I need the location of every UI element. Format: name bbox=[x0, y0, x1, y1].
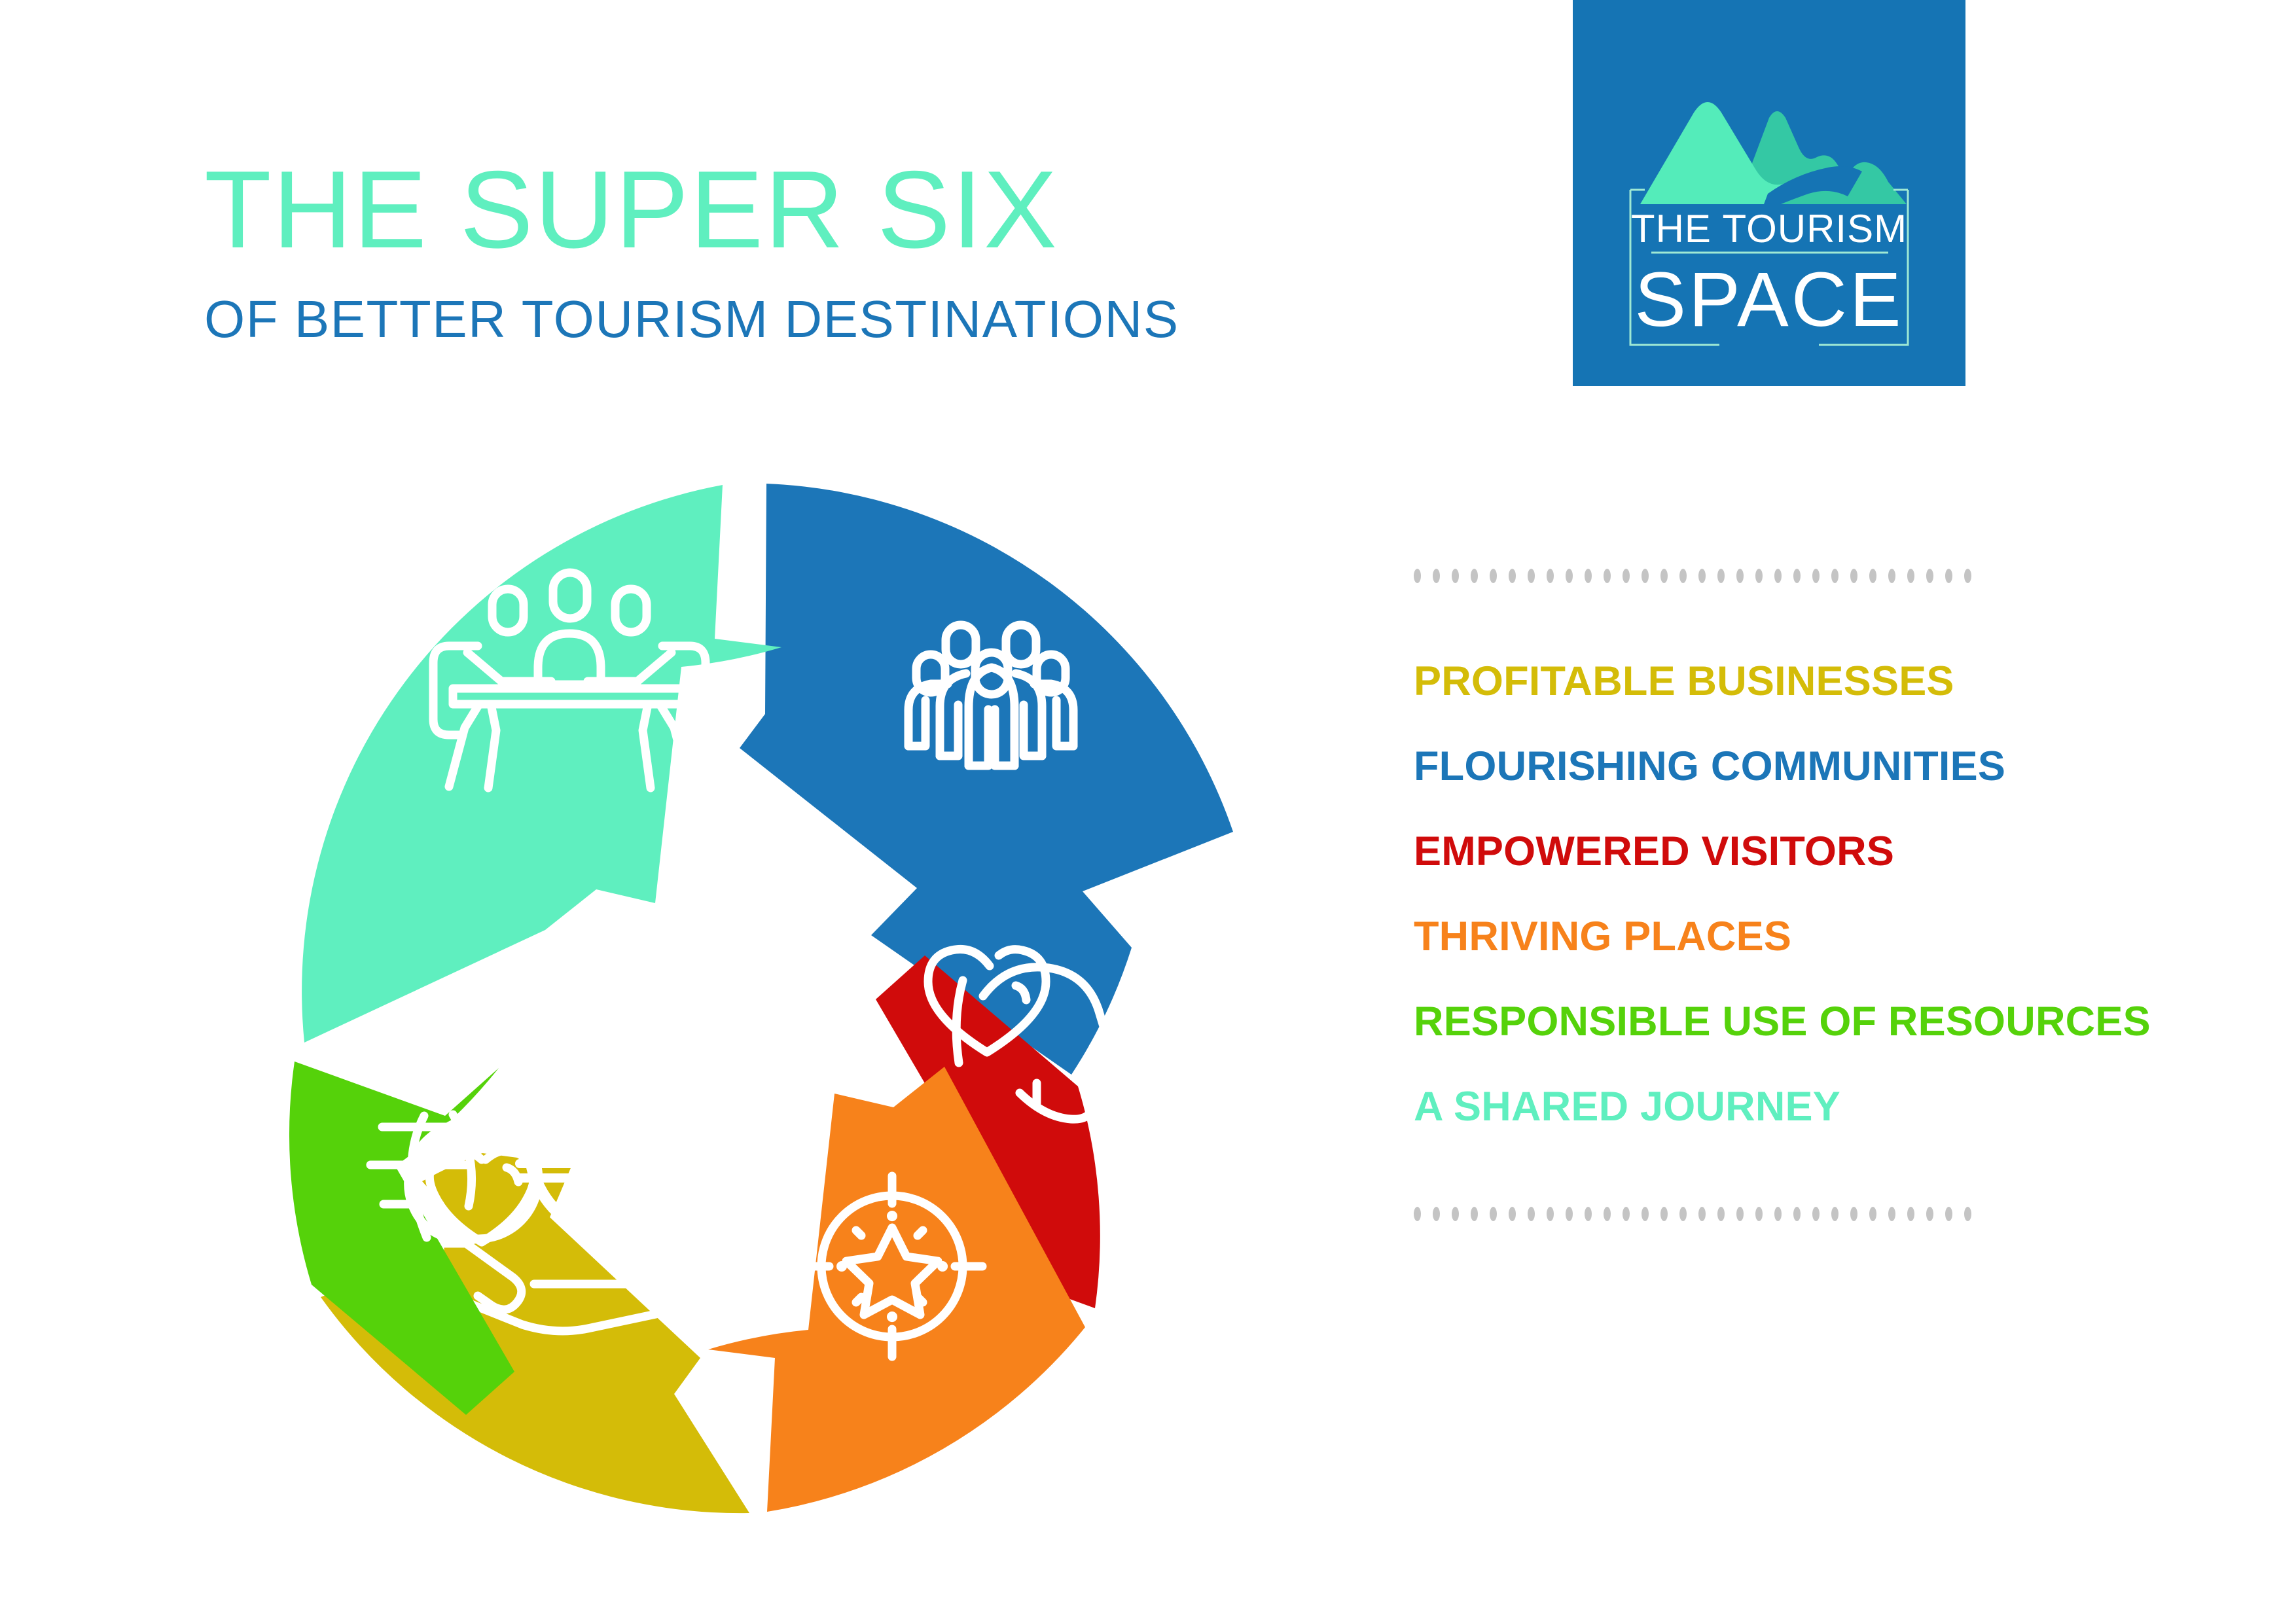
rule-dot bbox=[1945, 1207, 1952, 1221]
rule-dot bbox=[1604, 1207, 1611, 1221]
legend-spacer bbox=[1414, 1043, 2147, 1086]
segment-responsible-use-of-resources[interactable] bbox=[289, 1061, 539, 1415]
rule-dot bbox=[1585, 569, 1592, 583]
rule-dot bbox=[1888, 569, 1895, 583]
rule-dot bbox=[1433, 569, 1440, 583]
rule-dot bbox=[1698, 569, 1706, 583]
rule-dot bbox=[1414, 1207, 1421, 1221]
page-title: THE SUPER SIX bbox=[204, 154, 1448, 264]
rule-dot bbox=[1509, 569, 1516, 583]
rule-dot bbox=[1604, 569, 1611, 583]
header: THE SUPER SIX OF BETTER TOURISM DESTINAT… bbox=[204, 154, 1448, 346]
legend-spacer bbox=[1414, 787, 2147, 831]
legend-item: PROFITABLE BUSINESSES bbox=[1414, 661, 2147, 702]
rule-dot bbox=[1964, 569, 1971, 583]
page-subtitle: OF BETTER TOURISM DESTINATIONS bbox=[204, 264, 1448, 346]
rule-dot bbox=[1547, 1207, 1554, 1221]
rule-dot bbox=[1774, 569, 1782, 583]
legend-item: A SHARED JOURNEY bbox=[1414, 1086, 2147, 1128]
rule-dot bbox=[1490, 1207, 1497, 1221]
rule-dot bbox=[1774, 1207, 1782, 1221]
legend-item: RESPONSIBLE USE OF RESOURCES bbox=[1414, 1001, 2147, 1043]
legend-item: THRIVING PLACES bbox=[1414, 916, 2147, 957]
rule-dot bbox=[1888, 1207, 1895, 1221]
rule-dot bbox=[1755, 1207, 1763, 1221]
rule-dot bbox=[1698, 1207, 1706, 1221]
rule-dot bbox=[1850, 569, 1857, 583]
rule-dot bbox=[1566, 569, 1573, 583]
rule-dot bbox=[1641, 1207, 1649, 1221]
rule-dot bbox=[1793, 569, 1801, 583]
segment-a-shared-journey[interactable] bbox=[302, 485, 781, 1043]
legend-spacer bbox=[1414, 702, 2147, 746]
rule-dot bbox=[1812, 569, 1820, 583]
brand-logo[interactable]: THE TOURISM SPACE bbox=[1573, 0, 1965, 386]
rule-dot bbox=[1471, 1207, 1478, 1221]
rule-dot bbox=[1414, 569, 1421, 583]
rule-dot bbox=[1869, 1207, 1876, 1221]
logo-line1: THE TOURISM bbox=[1631, 207, 1907, 251]
rule-dot bbox=[1452, 569, 1459, 583]
rule-dot bbox=[1679, 569, 1687, 583]
rule-dot bbox=[1566, 1207, 1573, 1221]
legend-spacer bbox=[1414, 872, 2147, 916]
rule-dot bbox=[1490, 569, 1497, 583]
legend-item: FLOURISHING COMMUNITIES bbox=[1414, 746, 2147, 787]
rule-dot bbox=[1528, 569, 1535, 583]
rule-dot bbox=[1528, 1207, 1535, 1221]
logo-line2: SPACE bbox=[1634, 257, 1903, 343]
rule-dot bbox=[1660, 569, 1668, 583]
donut-svg bbox=[196, 458, 1283, 1544]
divider-top bbox=[1414, 563, 2147, 589]
rule-dot bbox=[1831, 1207, 1839, 1221]
rule-dot bbox=[1926, 569, 1933, 583]
rule-dot bbox=[1452, 1207, 1459, 1221]
divider-bottom bbox=[1414, 1201, 2147, 1227]
rule-dot bbox=[1433, 1207, 1440, 1221]
rule-dot bbox=[1945, 569, 1952, 583]
rule-dot bbox=[1717, 569, 1725, 583]
rule-dot bbox=[1660, 1207, 1668, 1221]
rule-dot bbox=[1793, 1207, 1801, 1221]
rule-dot bbox=[1547, 569, 1554, 583]
rule-dot bbox=[1907, 569, 1914, 583]
rule-dot bbox=[1812, 1207, 1820, 1221]
rule-dot bbox=[1850, 1207, 1857, 1221]
rule-dot bbox=[1471, 569, 1478, 583]
legend-list: PROFITABLE BUSINESSESFLOURISHING COMMUNI… bbox=[1414, 661, 2147, 1128]
rule-dot bbox=[1717, 1207, 1725, 1221]
rule-dot bbox=[1641, 569, 1649, 583]
rule-dot bbox=[1831, 569, 1839, 583]
rule-dot bbox=[1623, 1207, 1630, 1221]
rule-dot bbox=[1679, 1207, 1687, 1221]
rule-dot bbox=[1585, 1207, 1592, 1221]
legend-item: EMPOWERED VISITORS bbox=[1414, 831, 2147, 872]
legend-spacer bbox=[1414, 957, 2147, 1001]
logo-graphic: THE TOURISM SPACE bbox=[1573, 0, 1965, 386]
rule-dot bbox=[1964, 1207, 1971, 1221]
rule-dot bbox=[1907, 1207, 1914, 1221]
rule-dot bbox=[1736, 1207, 1744, 1221]
super-six-donut-chart bbox=[196, 458, 1283, 1544]
rule-dot bbox=[1755, 569, 1763, 583]
rule-dot bbox=[1736, 569, 1744, 583]
rule-dot bbox=[1623, 569, 1630, 583]
rule-dot bbox=[1509, 1207, 1516, 1221]
rule-dot bbox=[1869, 569, 1876, 583]
legend-panel: PROFITABLE BUSINESSESFLOURISHING COMMUNI… bbox=[1414, 563, 2147, 1227]
rule-dot bbox=[1926, 1207, 1933, 1221]
